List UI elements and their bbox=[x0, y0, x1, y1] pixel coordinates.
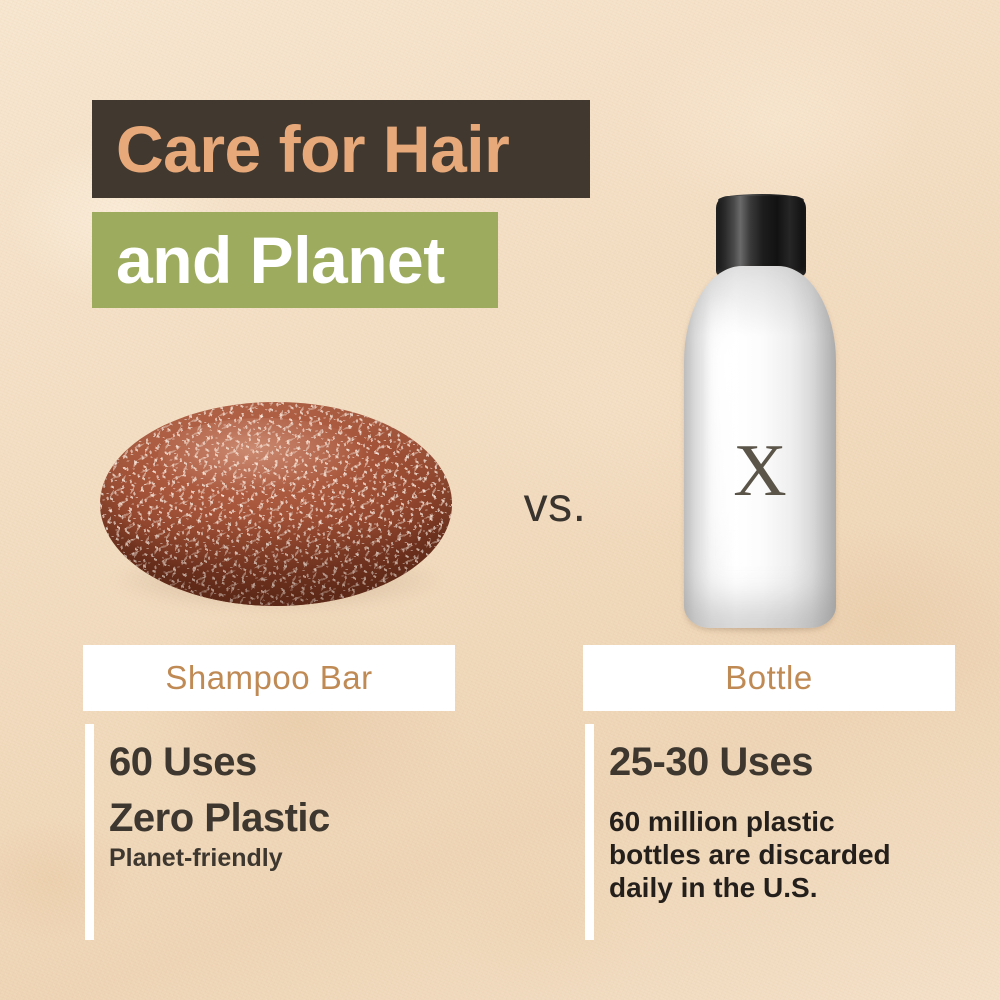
accent-bar-right-2 bbox=[585, 792, 594, 940]
headline-line-1: Care for Hair bbox=[116, 116, 509, 182]
product-label-box-right: Bottle bbox=[583, 645, 955, 711]
stat-block-right-uses: 25-30 Uses bbox=[583, 724, 955, 782]
stat-body-right-line-3: daily in the U.S. bbox=[609, 872, 955, 905]
stat-headline-left: Zero Plastic bbox=[109, 792, 455, 838]
product-label-left: Shampoo Bar bbox=[165, 659, 372, 697]
stat-uses-right: 25-30 Uses bbox=[609, 724, 955, 782]
shampoo-bar-icon bbox=[100, 398, 452, 626]
bottle-body: X bbox=[684, 266, 836, 628]
bottle-cap bbox=[716, 196, 806, 276]
shampoo-bar-body bbox=[100, 402, 452, 606]
bottle-x-mark-icon: X bbox=[684, 434, 836, 508]
accent-bar-left-2 bbox=[85, 792, 94, 940]
headline-line-2: and Planet bbox=[116, 227, 445, 293]
headline-banner-secondary: and Planet bbox=[92, 212, 498, 308]
shampoo-bar-flecks-layer-3 bbox=[100, 402, 452, 606]
stat-body-right-line-1: 60 million plastic bbox=[609, 806, 955, 839]
comparison-column-bottle: Bottle 25-30 Uses 60 million plastic bot… bbox=[583, 645, 955, 904]
comparison-column-shampoo-bar: Shampoo Bar 60 Uses Zero Plastic Planet-… bbox=[83, 645, 455, 871]
product-label-box-left: Shampoo Bar bbox=[83, 645, 455, 711]
stat-block-left-uses: 60 Uses bbox=[83, 724, 455, 782]
bottle-shoulder-shading bbox=[684, 266, 836, 336]
headline-banner-primary: Care for Hair bbox=[92, 100, 590, 198]
stat-sub-left: Planet-friendly bbox=[109, 838, 455, 871]
plastic-bottle-icon: X bbox=[676, 190, 842, 640]
product-label-right: Bottle bbox=[725, 659, 812, 697]
stat-body-right: 60 million plastic bottles are discarded… bbox=[609, 792, 955, 904]
stat-body-right-line-2: bottles are discarded bbox=[609, 839, 955, 872]
infographic-canvas: Care for Hair and Planet vs. X Shampoo B… bbox=[0, 0, 1000, 1000]
stat-block-left-plastic: Zero Plastic Planet-friendly bbox=[83, 792, 455, 871]
versus-separator: vs. bbox=[500, 478, 610, 533]
stat-block-right-waste: 60 million plastic bottles are discarded… bbox=[583, 792, 955, 904]
stat-uses-left: 60 Uses bbox=[109, 724, 455, 782]
